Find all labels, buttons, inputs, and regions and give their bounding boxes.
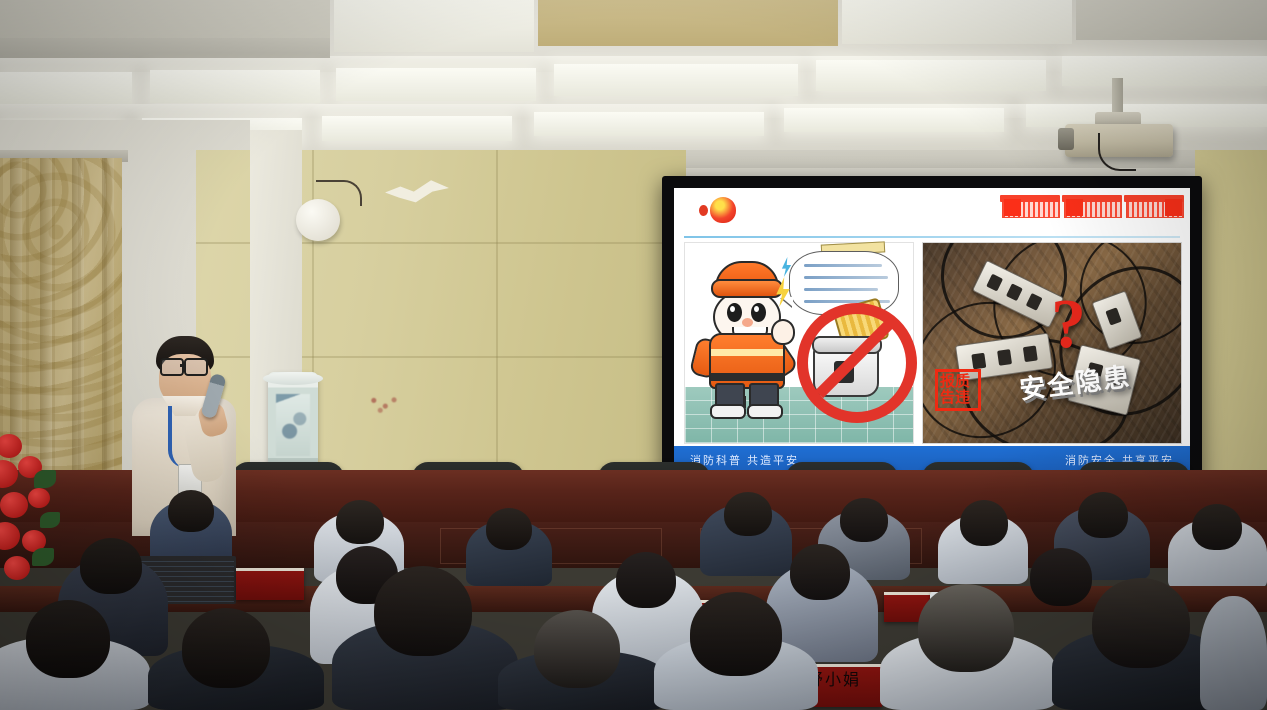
audience-head bbox=[374, 566, 472, 656]
bubble-text-line bbox=[804, 276, 888, 279]
audience-head bbox=[1092, 578, 1190, 668]
audience-head bbox=[790, 544, 850, 600]
slide-footer-left-text: 消防科普 共造平安 bbox=[690, 452, 799, 468]
lantern-accent-icon bbox=[699, 205, 708, 216]
ceiling-light bbox=[554, 64, 798, 96]
wall-speaker-icon bbox=[296, 199, 340, 241]
audience-head bbox=[960, 500, 1008, 546]
name-card bbox=[236, 568, 304, 600]
audience-head bbox=[616, 552, 676, 608]
ceiling-coffer bbox=[334, 0, 534, 52]
audience-head bbox=[336, 500, 384, 544]
projector-lens-icon bbox=[1058, 128, 1074, 150]
ceiling-light bbox=[1062, 56, 1267, 86]
prohibition-sign-icon bbox=[797, 303, 917, 423]
slide-body: ? 安全隐患 报质告违 bbox=[684, 242, 1180, 442]
porcelain-vase bbox=[268, 372, 318, 470]
audience-head bbox=[168, 490, 214, 532]
audience-head bbox=[182, 608, 270, 688]
audience-head bbox=[1078, 492, 1128, 538]
bubble-text-line bbox=[804, 264, 882, 267]
audience-head bbox=[1192, 504, 1242, 550]
lantern-icon bbox=[710, 197, 736, 223]
ceiling-light bbox=[336, 68, 536, 101]
audience-head bbox=[486, 508, 532, 550]
ceiling-light bbox=[784, 108, 1004, 132]
railing-graphic bbox=[1002, 195, 1184, 219]
ceiling-coffer bbox=[1076, 0, 1267, 40]
firefighter-mascot-icon bbox=[703, 261, 789, 413]
ceiling-beam-shadow bbox=[0, 38, 330, 58]
branch-relief-icon bbox=[360, 390, 406, 416]
audience-head bbox=[840, 498, 888, 542]
audience-head bbox=[80, 538, 142, 594]
ceiling-coffer-wood bbox=[538, 0, 838, 46]
audience-person-front bbox=[1200, 596, 1267, 710]
slide-divider bbox=[684, 236, 1180, 238]
ceiling-light bbox=[816, 60, 1046, 91]
presentation-screen[interactable]: ? 安全隐患 报质告违 消防科普 共造平安 消防安全 共享平安 bbox=[662, 176, 1202, 486]
audience-head-grey bbox=[534, 610, 620, 688]
audience-head bbox=[690, 592, 782, 676]
question-mark-icon: ? bbox=[1051, 293, 1086, 357]
conference-hall-photo: ? 安全隐患 报质告违 消防科普 共造平安 消防安全 共享平安 bbox=[0, 0, 1267, 710]
audience-head bbox=[26, 600, 110, 678]
audience-head bbox=[1030, 548, 1092, 606]
audience-head-grey bbox=[918, 584, 1014, 672]
ceiling-light bbox=[150, 70, 320, 103]
ceiling-light bbox=[0, 72, 132, 106]
cartoon-illustration-pane bbox=[684, 242, 914, 444]
slide: ? 安全隐患 报质告违 消防科普 共造平安 消防安全 共享平安 bbox=[674, 188, 1190, 474]
ceiling-light bbox=[322, 116, 512, 141]
warning-stamp: 报质告违 bbox=[935, 369, 981, 411]
audience-head bbox=[724, 492, 772, 536]
slide-header bbox=[674, 188, 1190, 238]
ceiling-coffer bbox=[842, 0, 1072, 44]
glasses-bridge bbox=[180, 364, 186, 367]
glasses-icon bbox=[160, 358, 184, 376]
hazard-photo-pane: ? 安全隐患 报质告违 bbox=[922, 242, 1182, 444]
glasses-icon bbox=[184, 358, 208, 376]
ceiling-light bbox=[534, 112, 764, 136]
bubble-text-line bbox=[804, 288, 878, 291]
projector-pole bbox=[1112, 78, 1123, 116]
